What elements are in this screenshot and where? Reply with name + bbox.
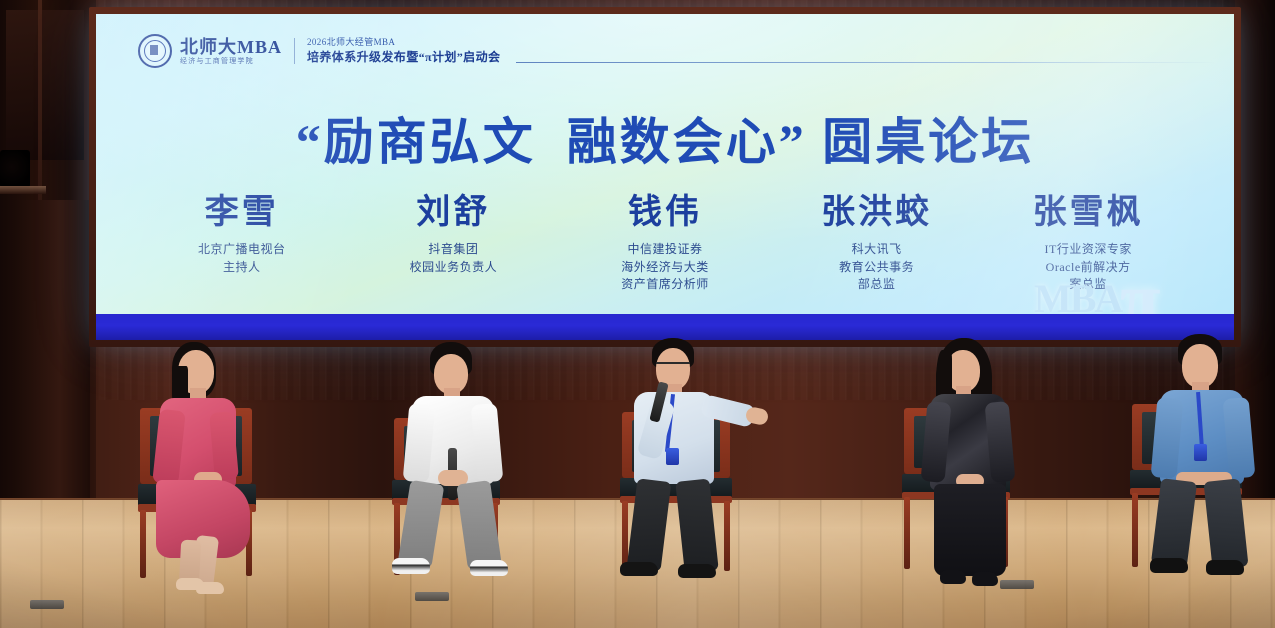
dress-shoe-right [678,564,716,578]
slide-surface: 北师大MBA 经济与工商管理学院 2026北师大经管MBA 培养体系升级发布暨“… [96,14,1234,314]
dress-shoe-left [1150,558,1188,573]
panelist-org-line: 资产首席分析师 [559,276,771,293]
panelist-org-line: 北京广播电视台 [136,241,348,258]
panelist-org: 抖音集团 校园业务负责人 [348,241,560,276]
wall-speaker [0,150,30,188]
panelist-org-line: 部总监 [771,276,983,293]
slide-title: “励商弘文 融数会心” 圆桌论坛 [96,102,1234,174]
leg-left [398,480,445,568]
left-wall-shadow [6,10,84,160]
person-panelist-4 [920,338,1030,588]
header-rule [516,62,1216,63]
leg-left [1151,478,1197,568]
panelist-entry-2: 刘舒 抖音集团 校园业务负责人 [348,194,560,294]
dress-shoe-left [620,562,658,576]
panelist-name: 张洪蛟 [771,194,983,231]
panelist-org-line: 校园业务负责人 [348,259,560,276]
sneaker-left [392,558,430,574]
panelist-org-line: 主持人 [136,259,348,276]
leg-right [1203,478,1248,569]
event-line-1: 2026北师大经管MBA [307,37,500,48]
panelist-name: 钱伟 [559,194,771,231]
shoe [196,582,224,594]
event-line-2: 培养体系升级发布暨“π计划”启动会 [307,50,500,65]
header-divider [294,38,295,64]
leg-left [627,478,672,571]
arm-right [1223,397,1256,479]
watermark-mba-text: MBA [1034,275,1121,314]
panelist-org-line: 抖音集团 [348,241,560,258]
watermark-pi-glyph: π [1120,271,1161,314]
screen-bottom-band [96,314,1234,340]
person-panelist-5 [1152,334,1264,586]
panelist-name: 李雪 [136,194,348,231]
glasses-icon [656,362,690,371]
projection-screen: 北师大MBA 经济与工商管理学院 2026北师大经管MBA 培养体系升级发布暨“… [96,14,1234,340]
panelist-org-line: 海外经济与大类 [559,259,771,276]
brand-school: 经济与工商管理学院 [180,58,282,65]
mba-pi-watermark: MBA π [1028,260,1218,314]
shoe [940,570,966,584]
stage-photo-scene: 北师大MBA 经济与工商管理学院 2026北师大经管MBA 培养体系升级发布暨“… [0,0,1275,628]
panelist-org: 科大讯飞 教育公共事务 部总监 [771,241,983,293]
arm-right [471,403,504,483]
person-panelist-2 [398,342,508,590]
event-title-block: 2026北师大经管MBA 培养体系升级发布暨“π计划”启动会 [307,37,500,65]
leg-right [456,480,502,570]
panelist-name: 张雪枫 [982,194,1194,231]
left-wall-sill [0,186,46,194]
long-skirt [934,484,1006,576]
panelist-org-line: 科大讯飞 [771,241,983,258]
slide-header: 北师大MBA 经济与工商管理学院 2026北师大经管MBA 培养体系升级发布暨“… [138,34,500,68]
panelist-org-line: IT行业资深专家 [982,241,1194,258]
brand-lockup: 北师大MBA 经济与工商管理学院 [180,38,282,65]
shoe [972,572,998,586]
university-seal-icon [138,34,172,68]
floor-socket-plate [415,592,449,601]
sneaker-right [470,560,508,576]
leg-right [675,478,718,573]
brand-name: 北师大MBA [180,38,282,56]
left-wall-panel [14,200,90,500]
panelist-entry-4: 张洪蛟 科大讯飞 教育公共事务 部总监 [771,194,983,294]
panelist-entry-1: 李雪 北京广播电视台 主持人 [136,194,348,294]
panelist-org: 中信建投证券 海外经济与大类 资产首席分析师 [559,241,771,293]
panelist-org: 北京广播电视台 主持人 [136,241,348,276]
panelist-org-line: 中信建投证券 [559,241,771,258]
person-panelist-3 [628,338,768,588]
badge [666,448,679,465]
panelist-name: 刘舒 [348,194,560,231]
dress-shoe-right [1206,560,1244,575]
floor-socket-plate [30,600,64,609]
panelist-org-line: 教育公共事务 [771,259,983,276]
badge [1194,444,1207,461]
person-moderator [150,340,270,590]
panelist-entry-3: 钱伟 中信建投证券 海外经济与大类 资产首席分析师 [559,194,771,294]
